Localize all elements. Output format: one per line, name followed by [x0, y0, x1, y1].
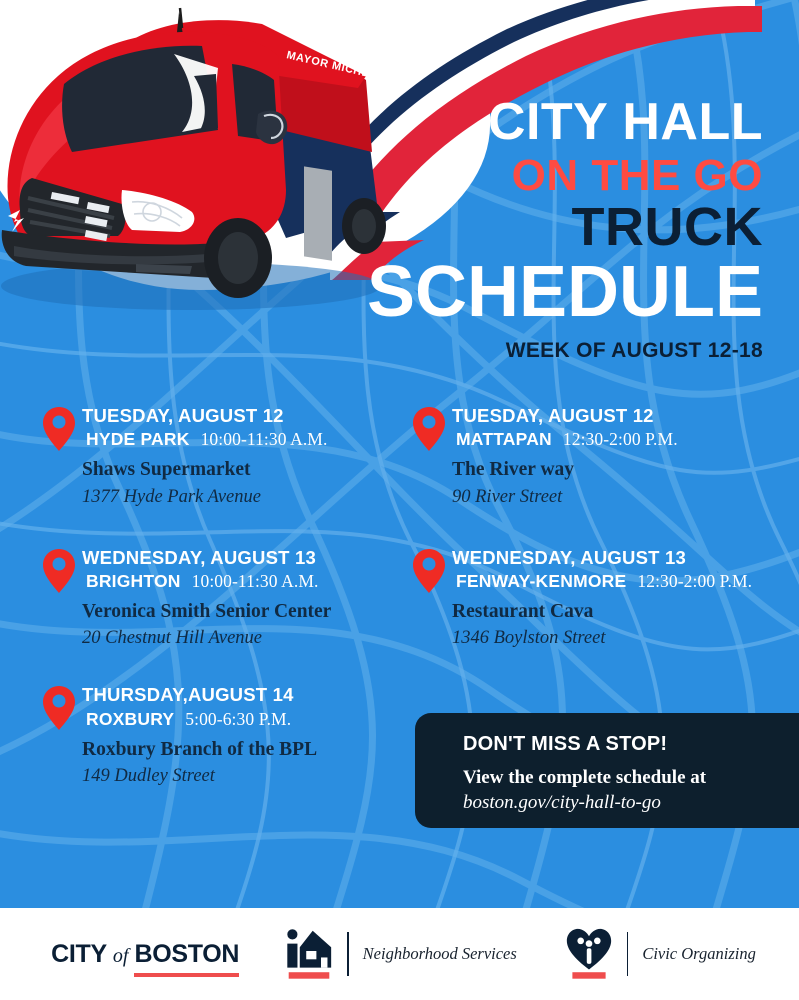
logo-word-city: CITY [51, 940, 107, 969]
civic-organizing-logo[interactable]: Civic Organizing [565, 927, 756, 981]
schedule-entry-mattapan[interactable]: TUESDAY, AUGUST 12 MATTAPAN 12:30-2:00 P… [400, 404, 799, 508]
callout-heading: DON'T MISS A STOP! [463, 733, 799, 756]
unit-label: Neighborhood Services [363, 944, 517, 964]
map-pin-icon [412, 548, 446, 594]
logo-word-boston: BOSTON [134, 940, 239, 968]
entry-address: 1377 Hyde Park Avenue [82, 486, 327, 508]
entry-date: THURSDAY,AUGUST 14 [82, 683, 317, 706]
callout-url[interactable]: boston.gov/city-hall-to-go [463, 792, 799, 814]
footer-logo-bar: CITY of BOSTON Neighborhood Services [0, 908, 799, 1000]
entry-address: 149 Dudley Street [82, 765, 317, 787]
entry-neighborhood: ROXBURY [86, 709, 174, 730]
dont-miss-a-stop-callout[interactable]: DON'T MISS A STOP! View the complete sch… [415, 713, 799, 828]
entry-time: 10:00-11:30 A.M. [192, 571, 319, 592]
map-pin-icon [42, 406, 76, 452]
entry-date: TUESDAY, AUGUST 12 [82, 404, 327, 427]
entry-time: 10:00-11:30 A.M. [201, 429, 328, 450]
entry-venue: Restaurant Cava [452, 600, 752, 623]
poster-title-block: CITY HALL ON THE GO TRUCK SCHEDULE WEEK … [367, 96, 763, 361]
entry-venue: The River way [452, 458, 678, 481]
map-pin-icon [42, 548, 76, 594]
subtitle-week-of: WEEK OF AUGUST 12-18 [367, 340, 763, 361]
title-city-hall: CITY HALL [367, 96, 763, 148]
logo-red-underline [134, 973, 239, 977]
neighborhood-services-logo[interactable]: Neighborhood Services [285, 927, 517, 981]
unit-label: Civic Organizing [642, 944, 756, 964]
schedule-row: TUESDAY, AUGUST 12 HYDE PARK 10:00-11:30… [0, 404, 799, 508]
schedule-entry-fenway-kenmore[interactable]: WEDNESDAY, AUGUST 13 FENWAY-KENMORE 12:3… [400, 546, 799, 650]
city-hall-to-go-truck-icon: MAYOR MICHELLE WU [0, 2, 406, 312]
poster: MAYOR MICHELLE WU CITY HALL ON THE GO TR… [0, 0, 799, 1000]
entry-address: 90 River Street [452, 486, 678, 508]
entry-address: 1346 Boylston Street [452, 627, 752, 649]
callout-subheading: View the complete schedule at [463, 767, 799, 789]
entry-neighborhood: FENWAY-KENMORE [456, 571, 626, 592]
logo-word-of: of [113, 945, 129, 968]
entry-venue: Veronica Smith Senior Center [82, 600, 331, 623]
map-pin-icon [42, 685, 76, 731]
schedule-entry-roxbury[interactable]: THURSDAY,AUGUST 14 ROXBURY 5:00-6:30 P.M… [0, 683, 400, 787]
schedule-row: WEDNESDAY, AUGUST 13 BRIGHTON 10:00-11:3… [0, 546, 799, 650]
map-pin-icon [412, 406, 446, 452]
entry-venue: Roxbury Branch of the BPL [82, 738, 317, 761]
logo-divider [347, 932, 349, 976]
title-schedule: SCHEDULE [367, 256, 763, 328]
entry-address: 20 Chestnut Hill Avenue [82, 627, 331, 649]
entry-neighborhood: BRIGHTON [86, 571, 181, 592]
logo-divider [627, 932, 629, 976]
entry-time: 5:00-6:30 P.M. [185, 709, 291, 730]
schedule-entry-brighton[interactable]: WEDNESDAY, AUGUST 13 BRIGHTON 10:00-11:3… [0, 546, 400, 650]
entry-date: WEDNESDAY, AUGUST 13 [452, 546, 752, 569]
heart-people-icon [565, 927, 613, 981]
entry-neighborhood: HYDE PARK [86, 429, 190, 450]
entry-venue: Shaws Supermarket [82, 458, 327, 481]
title-on-the-go: ON THE GO [367, 154, 763, 198]
house-person-icon [285, 927, 333, 981]
title-truck: TRUCK [367, 200, 763, 254]
entry-date: TUESDAY, AUGUST 12 [452, 404, 678, 427]
entry-date: WEDNESDAY, AUGUST 13 [82, 546, 331, 569]
entry-time: 12:30-2:00 P.M. [563, 429, 678, 450]
entry-time: 12:30-2:00 P.M. [637, 571, 752, 592]
entry-neighborhood: MATTAPAN [456, 429, 552, 450]
schedule-entry-hyde-park[interactable]: TUESDAY, AUGUST 12 HYDE PARK 10:00-11:30… [0, 404, 400, 508]
city-of-boston-logo[interactable]: CITY of BOSTON [51, 940, 239, 969]
